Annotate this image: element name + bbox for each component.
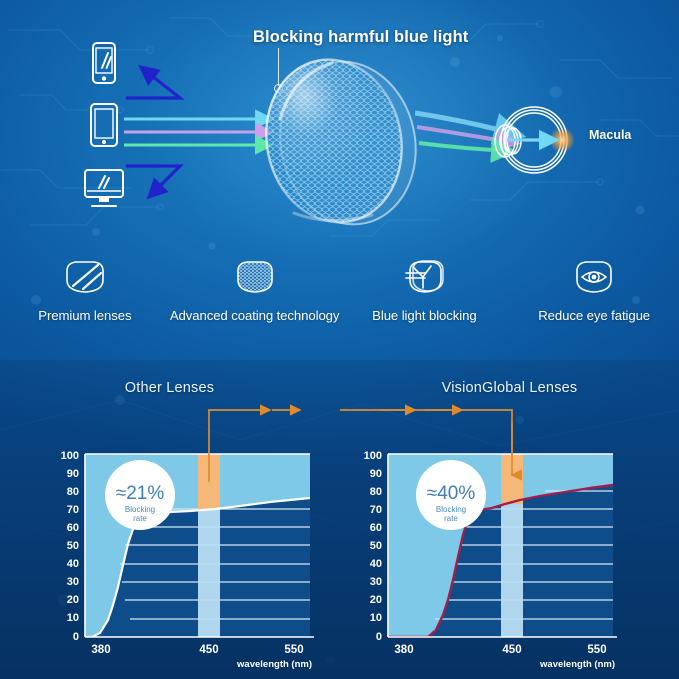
chart-other-lenses-plot: 100 90 80 70 60 50 40 30 20 10 0 380 450… [0, 372, 339, 679]
chart-visionglobal-plot: 100 90 80 70 60 50 40 30 20 10 0 380 450… [340, 372, 679, 679]
lens-illustration [252, 55, 432, 230]
blocking-rate-badge: ≈40% Blocking rate [416, 460, 486, 530]
svg-text:40: 40 [370, 558, 382, 570]
feature-premium-lenses: Premium lenses [0, 255, 170, 360]
eye-anatomy-icon [487, 95, 577, 190]
hero-section: Blocking harmful blue light [0, 0, 679, 248]
svg-text:30: 30 [370, 576, 382, 588]
hero-title: Blocking harmful blue light [253, 28, 468, 47]
badge-value: ≈21% [116, 483, 165, 504]
svg-text:50: 50 [67, 540, 79, 552]
blue-light-blocking-icon [401, 255, 447, 299]
badge-value: ≈40% [427, 483, 476, 504]
svg-text:70: 70 [370, 504, 382, 516]
feature-label: Reduce eye fatigue [538, 308, 650, 324]
svg-text:10: 10 [370, 612, 382, 624]
premium-lens-icon [63, 255, 107, 299]
charts-section: Other Lenses [0, 372, 679, 679]
svg-text:80: 80 [67, 486, 79, 498]
x-axis-caption: wavelength (nm) [539, 659, 615, 670]
svg-text:20: 20 [67, 594, 79, 606]
svg-text:80: 80 [370, 486, 382, 498]
feature-advanced-coating: Advanced coating technology [170, 255, 340, 360]
badge-caption-2: rate [444, 514, 458, 523]
badge-caption-1: Blocking [125, 505, 155, 514]
feature-label: Premium lenses [38, 308, 131, 324]
blocking-rate-badge: ≈21% Blocking rate [105, 460, 175, 530]
svg-text:40: 40 [67, 558, 79, 570]
svg-text:0: 0 [73, 631, 79, 643]
svg-text:550: 550 [587, 644, 606, 656]
badge-caption-2: rate [133, 514, 147, 523]
x-axis-tick-labels: 380 450 550 [91, 644, 303, 656]
x-axis-tick-labels: 380 450 550 [394, 644, 606, 656]
svg-text:100: 100 [61, 450, 79, 462]
reflected-ray-top [126, 68, 180, 98]
svg-text:30: 30 [67, 576, 79, 588]
feature-reduce-eye-fatigue: Reduce eye fatigue [509, 255, 679, 360]
svg-text:450: 450 [199, 644, 218, 656]
svg-text:100: 100 [364, 450, 382, 462]
feature-label: Blue light blocking [372, 308, 476, 324]
svg-text:70: 70 [67, 504, 79, 516]
svg-text:90: 90 [67, 468, 79, 480]
svg-text:90: 90 [370, 468, 382, 480]
eye-icon [572, 255, 616, 299]
svg-text:0: 0 [376, 631, 382, 643]
svg-text:60: 60 [67, 522, 79, 534]
badge-caption-1: Blocking [436, 505, 466, 514]
svg-text:20: 20 [370, 594, 382, 606]
coating-texture-icon [233, 255, 277, 299]
y-axis-tick-labels: 100 90 80 70 60 50 40 30 20 10 0 [364, 450, 382, 643]
x-axis-caption: wavelength (nm) [236, 659, 312, 670]
reflected-ray-bottom [126, 166, 180, 196]
feature-label: Advanced coating technology [170, 308, 340, 324]
svg-text:380: 380 [394, 644, 413, 656]
chart-other-lenses: Other Lenses [0, 372, 339, 679]
macula-label: Macula [589, 128, 631, 142]
svg-text:10: 10 [67, 612, 79, 624]
svg-text:60: 60 [370, 522, 382, 534]
y-axis-tick-labels: 100 90 80 70 60 50 40 30 20 10 0 [61, 450, 79, 643]
chart-visionglobal-lenses: VisionGlobal Lenses [340, 372, 679, 679]
svg-text:380: 380 [91, 644, 110, 656]
feature-blue-light-blocking: Blue light blocking [340, 255, 510, 360]
svg-text:550: 550 [284, 644, 303, 656]
feature-row: Premium lenses [0, 255, 679, 360]
svg-text:50: 50 [370, 540, 382, 552]
blue-light-lens-infographic: Blocking harmful blue light [0, 0, 679, 679]
svg-text:450: 450 [502, 644, 521, 656]
